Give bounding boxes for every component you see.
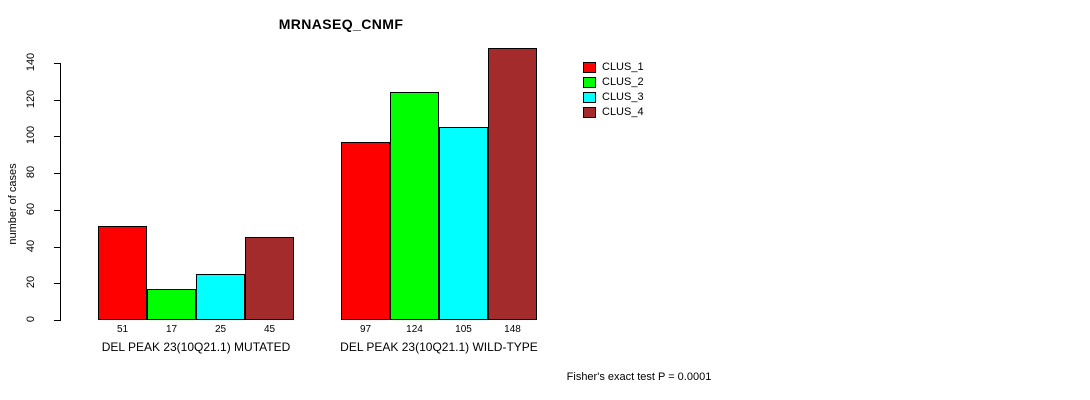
bar bbox=[439, 127, 488, 320]
legend-label: CLUS_4 bbox=[602, 107, 644, 118]
legend-swatch-icon bbox=[583, 92, 596, 103]
y-tick-label: 100 bbox=[14, 129, 48, 141]
y-tick-mark bbox=[54, 100, 60, 101]
bar bbox=[488, 48, 537, 320]
bar-value-label: 45 bbox=[245, 324, 294, 335]
legend-label: CLUS_1 bbox=[602, 62, 644, 73]
bar-value-label: 17 bbox=[147, 324, 196, 335]
y-tick-label: 120 bbox=[14, 93, 48, 105]
y-tick-label: 140 bbox=[14, 56, 48, 68]
bar-value-label: 97 bbox=[341, 324, 390, 335]
legend-label: CLUS_2 bbox=[602, 77, 644, 88]
y-tick-mark bbox=[54, 173, 60, 174]
y-tick-label: 60 bbox=[14, 203, 48, 215]
legend-swatch-icon bbox=[583, 107, 596, 118]
legend-item: CLUS_3 bbox=[583, 90, 644, 104]
y-tick-label: 80 bbox=[14, 166, 48, 178]
bar bbox=[341, 142, 390, 320]
y-tick-mark bbox=[54, 320, 60, 321]
bar-value-label: 148 bbox=[488, 324, 537, 335]
bar bbox=[147, 289, 196, 320]
statistical-annotation: Fisher's exact test P = 0.0001 bbox=[94, 371, 1090, 383]
y-tick-mark bbox=[54, 247, 60, 248]
legend-swatch-icon bbox=[583, 62, 596, 73]
y-tick-label: 40 bbox=[14, 240, 48, 252]
bar-value-label: 124 bbox=[390, 324, 439, 335]
bar bbox=[196, 274, 245, 320]
y-tick-label: 20 bbox=[14, 276, 48, 288]
chart-title: MRNASEQ_CNMF bbox=[0, 16, 1090, 32]
bar bbox=[245, 237, 294, 320]
legend-swatch-icon bbox=[583, 77, 596, 88]
y-tick-label: 0 bbox=[14, 313, 48, 325]
legend-label: CLUS_3 bbox=[602, 92, 644, 103]
barplot-figure: MRNASEQ_CNMF number of cases 02040608010… bbox=[0, 0, 1090, 400]
legend-item: CLUS_1 bbox=[583, 60, 644, 74]
bar bbox=[390, 92, 439, 320]
bar-value-label: 105 bbox=[439, 324, 488, 335]
bar-value-label: 25 bbox=[196, 324, 245, 335]
y-tick-mark bbox=[54, 63, 60, 64]
y-axis-line bbox=[60, 63, 61, 321]
y-tick-mark bbox=[54, 210, 60, 211]
legend-item: CLUS_4 bbox=[583, 105, 644, 119]
bar bbox=[98, 226, 147, 320]
legend-item: CLUS_2 bbox=[583, 75, 644, 89]
bar-value-label: 51 bbox=[98, 324, 147, 335]
legend: CLUS_1CLUS_2CLUS_3CLUS_4 bbox=[583, 60, 644, 120]
group-label: DEL PEAK 23(10Q21.1) WILD-TYPE bbox=[281, 340, 597, 354]
y-tick-mark bbox=[54, 136, 60, 137]
y-tick-mark bbox=[54, 283, 60, 284]
